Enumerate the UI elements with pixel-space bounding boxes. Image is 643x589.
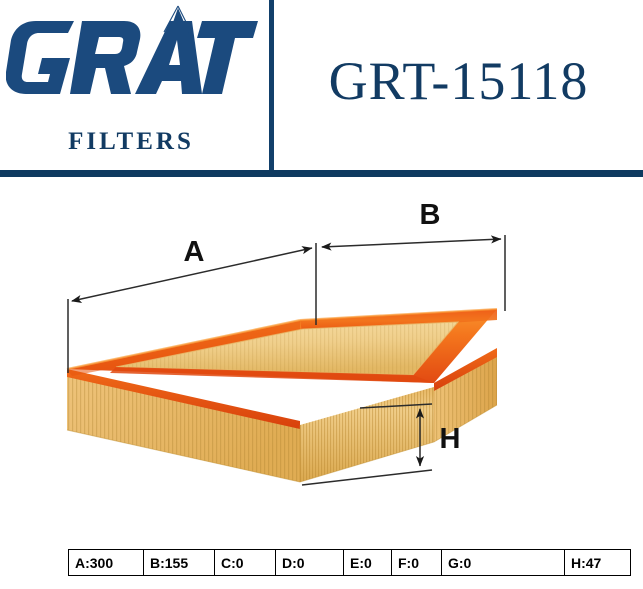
air-filter-illustration (67, 309, 497, 482)
spec-cell-f: F:0 (392, 550, 442, 576)
dimension-b-label: B (420, 199, 441, 231)
header-rule (0, 170, 643, 177)
brand-subtitle: FILTERS (0, 129, 262, 154)
spec-cell-e: E:0 (344, 550, 392, 576)
filter-diagram: A B H (0, 177, 643, 537)
grat-wordmark-icon (6, 2, 258, 127)
product-spec-sheet: FILTERS GRT-15118 (0, 0, 643, 589)
spec-cell-d: D:0 (276, 550, 344, 576)
brand-logo: FILTERS (0, 0, 269, 170)
spec-cell-h: H:47 (565, 550, 631, 576)
spec-cell-b: B:155 (144, 550, 215, 576)
dimension-b (322, 235, 505, 311)
table-row: A:300 B:155 C:0 D:0 E:0 F:0 G:0 H:47 (69, 550, 631, 576)
spec-cell-c: C:0 (215, 550, 276, 576)
dimension-a-label: A (184, 236, 205, 268)
specifications-table: A:300 B:155 C:0 D:0 E:0 F:0 G:0 H:47 (68, 549, 574, 576)
dimension-h-label: H (440, 423, 461, 455)
header: FILTERS GRT-15118 (0, 0, 643, 170)
part-number: GRT-15118 (274, 0, 643, 170)
spec-cell-a: A:300 (69, 550, 144, 576)
spec-cell-g: G:0 (442, 550, 565, 576)
